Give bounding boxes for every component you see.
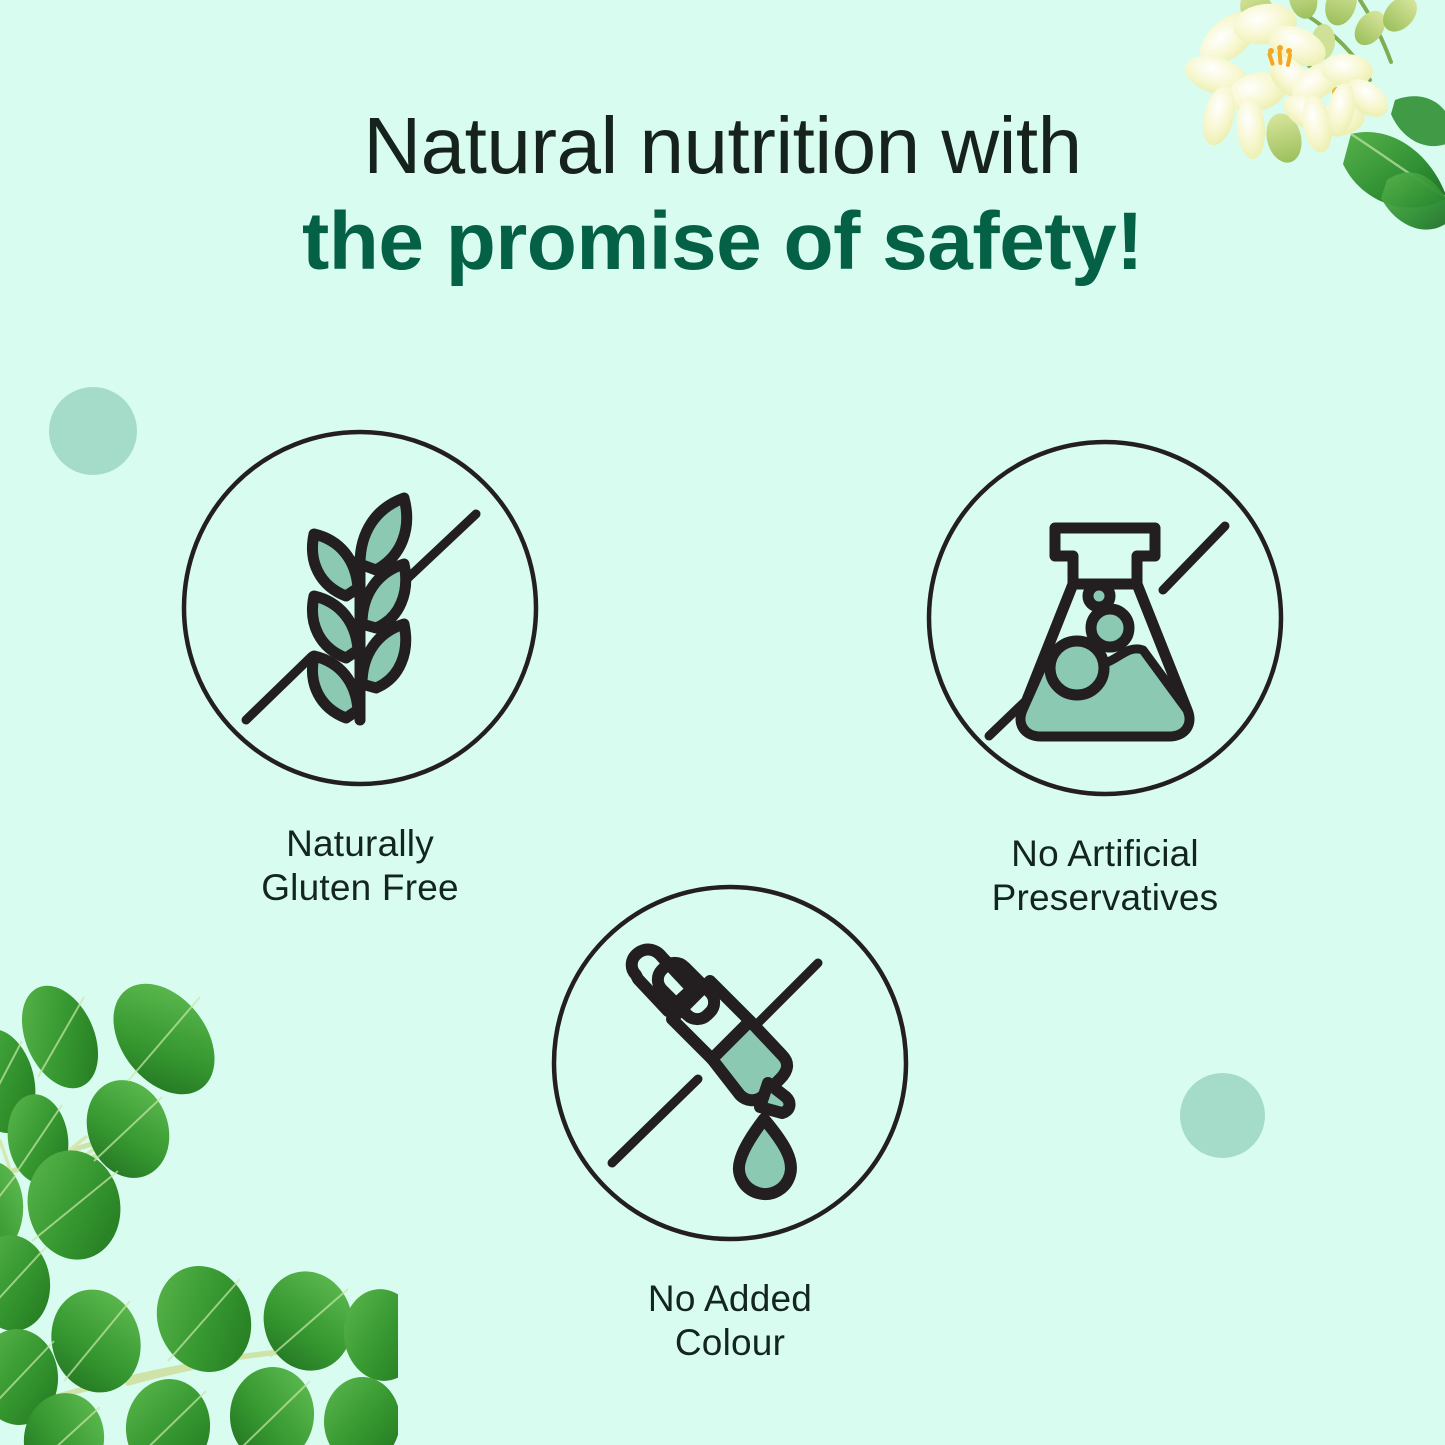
feature-naturally-gluten-free: Naturally Gluten Free: [150, 428, 570, 909]
no-wheat-icon-wrap: [180, 428, 540, 788]
no-dropper-icon-wrap: [550, 883, 910, 1243]
feature-caption: No Artificial Preservatives: [895, 832, 1315, 919]
caption-line-1: No Artificial: [895, 832, 1315, 876]
feature-no-artificial-preservatives: No Artificial Preservatives: [895, 438, 1315, 919]
feature-no-added-colour: No Added Colour: [520, 883, 940, 1364]
page-title: Natural nutrition with the promise of sa…: [0, 104, 1445, 286]
headline-line-2: the promise of safety!: [0, 199, 1445, 286]
no-wheat-icon: [180, 428, 540, 788]
feature-caption: No Added Colour: [520, 1277, 940, 1364]
caption-line-2: Preservatives: [895, 876, 1315, 920]
caption-line-1: Naturally: [150, 822, 570, 866]
feature-caption: Naturally Gluten Free: [150, 822, 570, 909]
decorative-circle-right: [1180, 1073, 1265, 1158]
no-flask-icon-wrap: [925, 438, 1285, 798]
caption-line-2: Colour: [520, 1321, 940, 1365]
caption-line-1: No Added: [520, 1277, 940, 1321]
promo-poster: Natural nutrition with the promise of sa…: [0, 0, 1445, 1445]
caption-line-2: Gluten Free: [150, 866, 570, 910]
no-dropper-icon: [550, 883, 910, 1243]
headline-line-1: Natural nutrition with: [0, 104, 1445, 189]
decorative-circle-left: [49, 387, 137, 475]
moringa-leaves-image: [0, 953, 398, 1445]
no-flask-icon: [925, 438, 1285, 798]
